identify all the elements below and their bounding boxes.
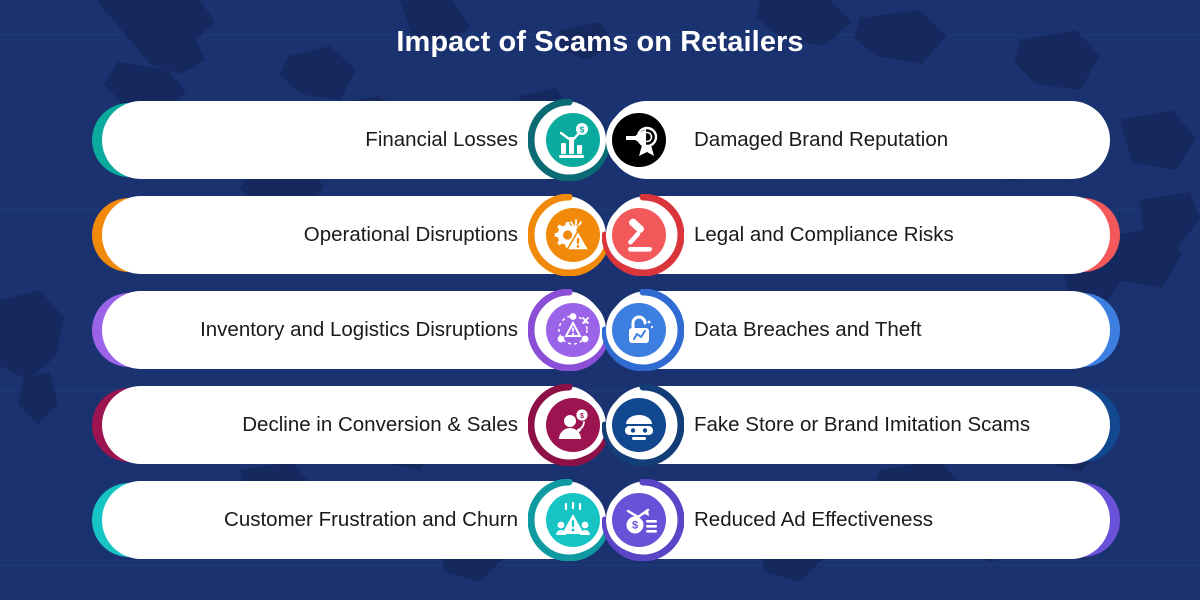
card-row: Financial Losses $ [0,101,1200,196]
falling-bar-chart-dollar-icon[interactable]: $ [528,99,610,181]
card-data-breaches-and-theft[interactable]: Data Breaches and Theft [608,291,1120,369]
card-label: Decline in Conversion & Sales [132,386,518,464]
card-label: Reduced Ad Effectiveness [694,481,1080,559]
card-label: Legal and Compliance Risks [694,196,1080,274]
card-label: Inventory and Logistics Disruptions [132,291,518,369]
card-customer-frustration-and-churn[interactable]: Customer Frustration and Churn [92,481,604,559]
card-damaged-brand-reputation[interactable]: Damaged Brand Reputation [608,101,1120,179]
alert-people-icon[interactable] [528,479,610,561]
card-row: Inventory and Logistics Disruptions [0,291,1200,386]
card-row: Decline in Conversion & Sales $ [0,386,1200,481]
svg-text:$: $ [580,124,585,134]
card-label: Data Breaches and Theft [694,291,1080,369]
card-legal-and-compliance-risks[interactable]: Legal and Compliance Risks [608,196,1120,274]
card-row: Customer Frustration and Churn [0,481,1200,576]
award-badge-megaphone-icon[interactable] [602,99,684,181]
svg-text:$: $ [580,413,584,420]
page-title: Impact of Scams on Retailers [0,26,1200,59]
card-label: Financial Losses [132,101,518,179]
card-label: Operational Disruptions [132,196,518,274]
masked-thief-icon[interactable] [602,384,684,466]
card-label: Customer Frustration and Churn [132,481,518,559]
svg-text:$: $ [632,520,638,532]
supply-chain-warning-icon[interactable] [528,289,610,371]
declining-money-icon[interactable]: $ [602,479,684,561]
card-label: Fake Store or Brand Imitation Scams [694,386,1080,464]
cards-board: Financial Losses $ [0,101,1200,576]
card-reduced-ad-effectiveness[interactable]: Reduced Ad Effectiveness $ [608,481,1120,559]
card-label: Damaged Brand Reputation [694,101,1080,179]
customer-dollar-decline-icon[interactable]: $ [528,384,610,466]
gavel-icon[interactable] [602,194,684,276]
card-financial-losses[interactable]: Financial Losses $ [92,101,604,179]
gear-warning-icon[interactable] [528,194,610,276]
card-inventory-and-logistics-disruptions[interactable]: Inventory and Logistics Disruptions [92,291,604,369]
unlocked-padlock-icon[interactable] [602,289,684,371]
card-decline-in-conversion-and-sales[interactable]: Decline in Conversion & Sales $ [92,386,604,464]
card-operational-disruptions[interactable]: Operational Disruptions [92,196,604,274]
card-row: Operational Disruptions [0,196,1200,291]
card-fake-store-or-brand-imitation-scams[interactable]: Fake Store or Brand Imitation Scams [608,386,1120,464]
